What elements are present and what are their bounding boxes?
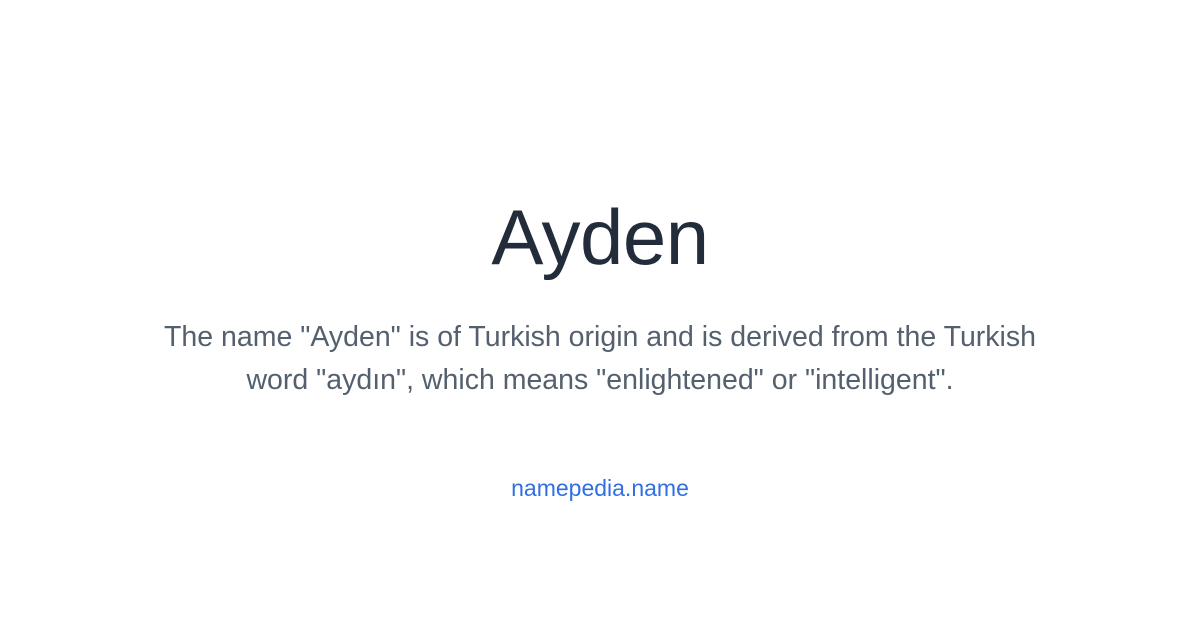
- name-meaning-card: Ayden The name "Ayden" is of Turkish ori…: [0, 0, 1200, 630]
- site-link[interactable]: namepedia.name: [511, 474, 689, 502]
- page-title: Ayden: [491, 196, 708, 278]
- name-description: The name "Ayden" is of Turkish origin an…: [160, 316, 1040, 402]
